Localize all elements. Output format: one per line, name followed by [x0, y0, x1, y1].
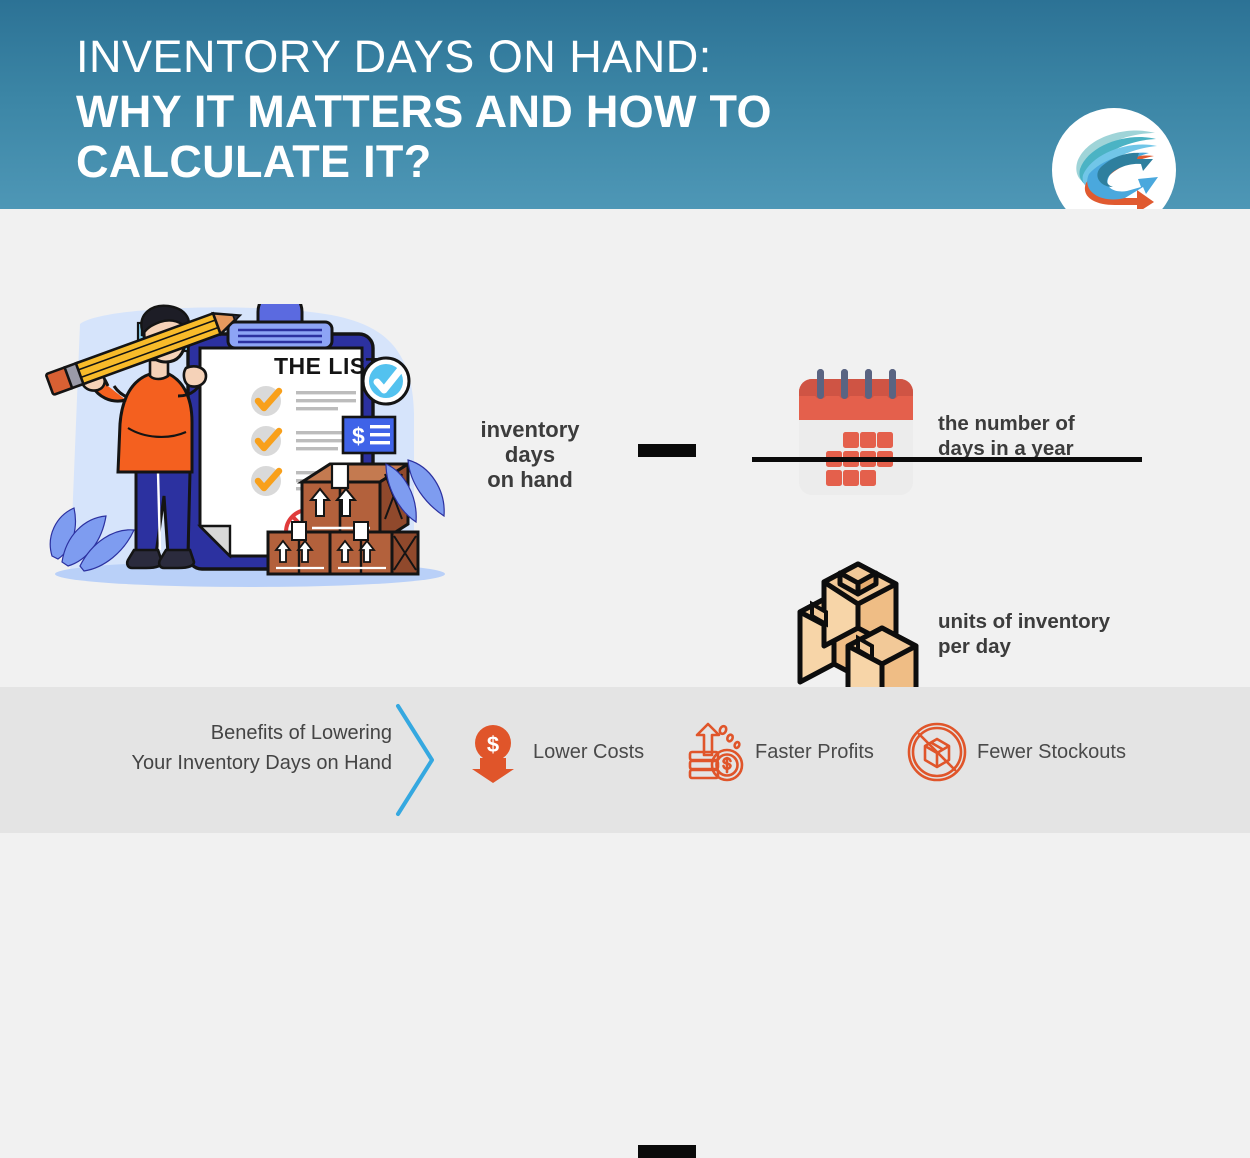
fraction-divider	[752, 457, 1142, 462]
benefit-label: Lower Costs	[533, 741, 644, 764]
page-title: INVENTORY DAYS ON HAND: WHY IT MATTERS A…	[76, 32, 936, 187]
no-box-icon	[906, 721, 968, 783]
benefit-label: Faster Profits	[755, 741, 874, 764]
dollar-list-card-icon: $	[343, 417, 395, 453]
benefits-bar: Benefits of Lowering Your Inventory Days…	[0, 687, 1250, 833]
formula-label-line-3: on hand	[450, 467, 610, 492]
title-line-3: CALCULATE IT?	[76, 137, 936, 187]
benefits-heading: Benefits of Lowering Your Inventory Days…	[80, 718, 392, 778]
denominator-text-line-2: per day	[938, 634, 1178, 659]
benefit-item-fewer-stockouts[interactable]: Fewer Stockouts	[906, 719, 1126, 785]
equals-bar-bottom	[638, 1145, 696, 1158]
benefit-label: Fewer Stockouts	[977, 741, 1126, 764]
benefits-heading-line-1: Benefits of Lowering	[80, 718, 392, 748]
title-line-1: INVENTORY DAYS ON HAND:	[76, 32, 936, 82]
title-line-2: WHY IT MATTERS AND HOW TO	[76, 87, 936, 137]
benefits-heading-line-2: Your Inventory Days on Hand	[80, 748, 392, 778]
person-clipboard-boxes-illustration: THE LIST	[40, 304, 460, 609]
checklist-illustration: THE LIST	[40, 304, 460, 609]
benefit-item-faster-profits[interactable]: Faster Profits	[684, 719, 874, 785]
main-content: THE LIST	[0, 209, 1250, 687]
calendar-icon	[796, 367, 916, 497]
blue-check-badge-icon	[363, 358, 409, 404]
stacked-boxes-icon	[796, 554, 920, 706]
dollar-down-arrow-icon: $	[462, 721, 524, 783]
brand-logo[interactable]	[1052, 108, 1176, 209]
numerator-text: the number of days in a year	[938, 411, 1168, 461]
denominator-text-line-1: units of inventory	[938, 609, 1178, 634]
coins-up-arrow-icon	[684, 721, 746, 783]
equals-bar-top	[638, 444, 696, 457]
svg-text:$: $	[352, 423, 365, 449]
swoosh-logo-icon	[1055, 111, 1173, 209]
logo-circle	[1052, 108, 1176, 209]
header-banner: INVENTORY DAYS ON HAND: WHY IT MATTERS A…	[0, 0, 1250, 209]
benefit-item-lower-costs[interactable]: $ Lower Costs	[462, 719, 644, 785]
equals-sign	[638, 444, 696, 496]
formula-label: inventory days on hand	[450, 417, 610, 492]
formula-fraction: the number of days in a year	[752, 289, 1152, 649]
svg-text:$: $	[487, 732, 499, 757]
denominator-text: units of inventory per day	[938, 609, 1178, 659]
numerator-text-line-1: the number of	[938, 411, 1168, 436]
chevron-right-icon	[392, 702, 444, 818]
formula-label-line-2: days	[450, 442, 610, 467]
formula-label-line-1: inventory	[450, 417, 610, 442]
